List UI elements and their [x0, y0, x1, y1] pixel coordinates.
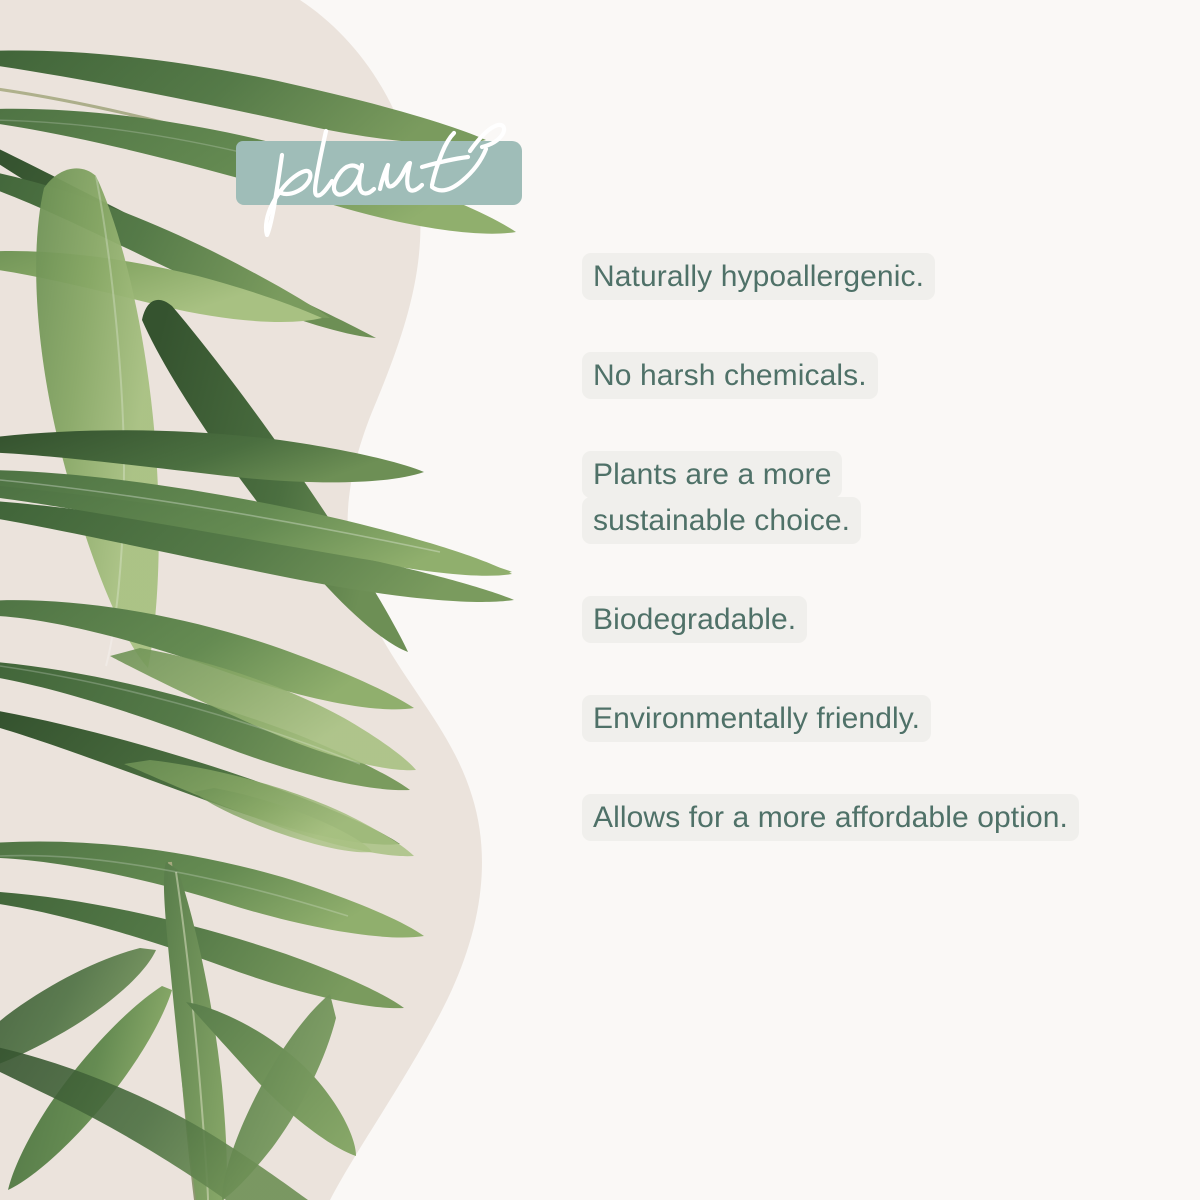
poster-canvas: Naturally hypoallergenic. No harsh chemi…	[0, 0, 1200, 1200]
banner-plate	[236, 141, 522, 205]
benefit-label: Naturally hypoallergenic.	[582, 253, 935, 300]
benefit-item: Naturally hypoallergenic.	[582, 254, 1142, 301]
benefit-label: Environmentally friendly.	[582, 695, 931, 742]
benefit-label: Allows for a more affordable option.	[582, 794, 1079, 841]
benefit-label: Plants are a more sustainable choice.	[582, 451, 861, 545]
benefit-label: Biodegradable.	[582, 596, 807, 643]
benefits-list: Naturally hypoallergenic. No harsh chemi…	[582, 254, 1142, 842]
benefit-label: No harsh chemicals.	[582, 352, 878, 399]
benefit-item: No harsh chemicals.	[582, 353, 1142, 400]
benefit-item: Allows for a more affordable option.	[582, 795, 1142, 842]
benefit-item: Environmentally friendly.	[582, 696, 1142, 743]
benefit-item: Biodegradable.	[582, 597, 1142, 644]
benefit-item: Plants are a more sustainable choice.	[582, 452, 882, 546]
plant-banner	[236, 141, 522, 205]
